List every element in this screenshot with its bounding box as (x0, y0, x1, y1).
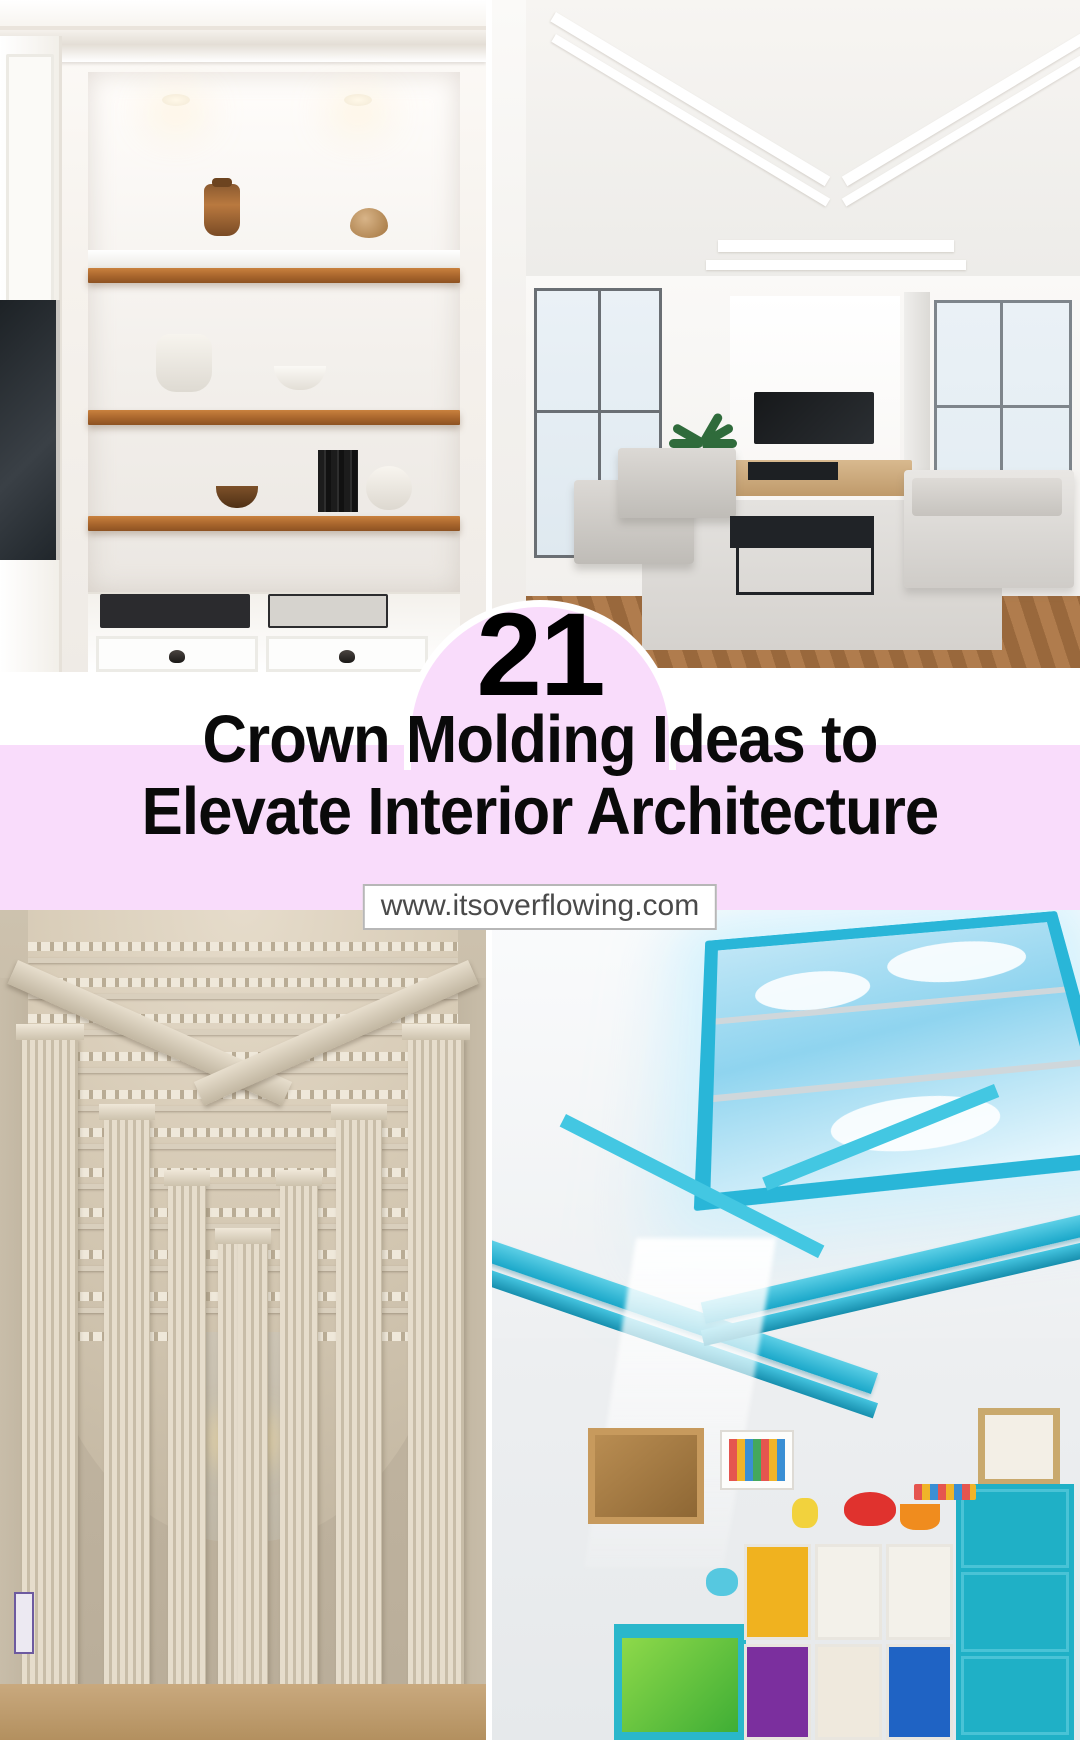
crown-molding (0, 0, 486, 62)
crown-molding-band (842, 12, 1080, 186)
recessed-light-icon (344, 94, 372, 106)
column-capital (99, 1104, 154, 1120)
wall-sign (14, 1592, 34, 1654)
storage-cube (815, 1544, 882, 1640)
column-capital (402, 1024, 469, 1040)
playroom-skylight-scene (492, 908, 1080, 1740)
builtin-shelving-scene (0, 0, 486, 672)
column-capital (331, 1104, 386, 1120)
vault-rib (28, 1106, 458, 1111)
crown-molding-band (718, 240, 954, 252)
ceramic-bowl (274, 366, 326, 390)
coffer-row (28, 1090, 458, 1099)
page-title: Crown Molding Ideas to Elevate Interior … (43, 704, 1037, 847)
tall-cube-unit (956, 1484, 1074, 1740)
storage-bin (815, 1644, 882, 1740)
column-capital (235, 1228, 271, 1244)
photo-top-right (492, 0, 1080, 668)
column (168, 1184, 206, 1740)
terracotta-jar (204, 184, 240, 236)
vault-rib (28, 958, 458, 963)
cloud (885, 936, 1031, 987)
vault-rib (28, 1144, 458, 1149)
framed-artwork (588, 1428, 704, 1524)
storage-cube (961, 1572, 1069, 1651)
book-stack (318, 450, 358, 512)
vault-rib (28, 1184, 458, 1189)
ceramic-vase (156, 334, 212, 392)
framed-drawing (978, 1408, 1060, 1486)
skylight-bar (713, 1059, 1080, 1102)
book-stack (914, 1484, 976, 1500)
ceramic-vase (366, 466, 412, 510)
wood-shelf (88, 268, 460, 283)
pinterest-pin: 21 Crown Molding Ideas to Elevate Interi… (0, 0, 1080, 1740)
storage-cube (886, 1544, 953, 1640)
crown-molding-band (551, 34, 830, 207)
small-pot (350, 208, 388, 238)
cabinet-door (6, 54, 54, 304)
coffer-row (28, 942, 458, 951)
alphabet-poster (720, 1430, 794, 1490)
coffee-table (730, 516, 874, 548)
crown-molding-band (706, 260, 966, 270)
coffer-row (28, 1208, 458, 1217)
television (0, 300, 60, 560)
title-line-1: Crown Molding Ideas to (203, 702, 878, 777)
stone-floor (0, 1684, 486, 1740)
media-console (734, 460, 912, 496)
column-capital (276, 1170, 322, 1186)
armchair (618, 448, 736, 518)
yellow-animal-toy (792, 1498, 818, 1528)
storage-cube (744, 1544, 811, 1640)
coffer-row (28, 1168, 458, 1177)
ceiling (526, 0, 1080, 300)
glass-bowl (216, 486, 258, 508)
storage-cube (961, 1656, 1069, 1735)
photo-bottom-left (0, 908, 486, 1740)
blue-pony-toy (706, 1568, 738, 1596)
vault-rib (28, 1030, 458, 1035)
classical-vaulted-hall-scene (0, 908, 486, 1740)
crown-molding-band (550, 12, 830, 186)
photo-bottom-right (492, 908, 1080, 1740)
column (104, 1120, 150, 1740)
storage-bin (744, 1644, 811, 1740)
shelf-ledge (88, 250, 460, 268)
wood-shelf (88, 410, 460, 425)
photo-top-left (0, 0, 486, 672)
column-capital (164, 1170, 210, 1186)
red-toy (844, 1492, 896, 1526)
recessed-light-icon (162, 94, 190, 106)
website-url[interactable]: www.itsoverflowing.com (363, 884, 717, 930)
column (408, 1040, 464, 1740)
storage-bin (886, 1644, 953, 1740)
skylight (694, 911, 1080, 1211)
tray-ceiling-living-room-scene (492, 0, 1080, 668)
wood-shelf (88, 516, 460, 531)
storage-cube (961, 1489, 1069, 1568)
coffer-row (28, 1128, 458, 1137)
column (280, 1184, 318, 1740)
green-storage-unit (614, 1624, 746, 1740)
column (238, 1240, 268, 1740)
column (336, 1120, 382, 1740)
column-capital (16, 1024, 83, 1040)
coffer-row (28, 978, 458, 987)
orange-bowl-toy (900, 1504, 940, 1530)
title-line-2: Elevate Interior Architecture (43, 776, 1037, 848)
item-count: 21 (0, 596, 1080, 714)
shelf-niche (88, 72, 460, 592)
sofa (904, 470, 1074, 588)
palm-leaf (669, 439, 703, 448)
wall-television (754, 392, 874, 444)
tray-ceiling-molding (596, 8, 1076, 276)
